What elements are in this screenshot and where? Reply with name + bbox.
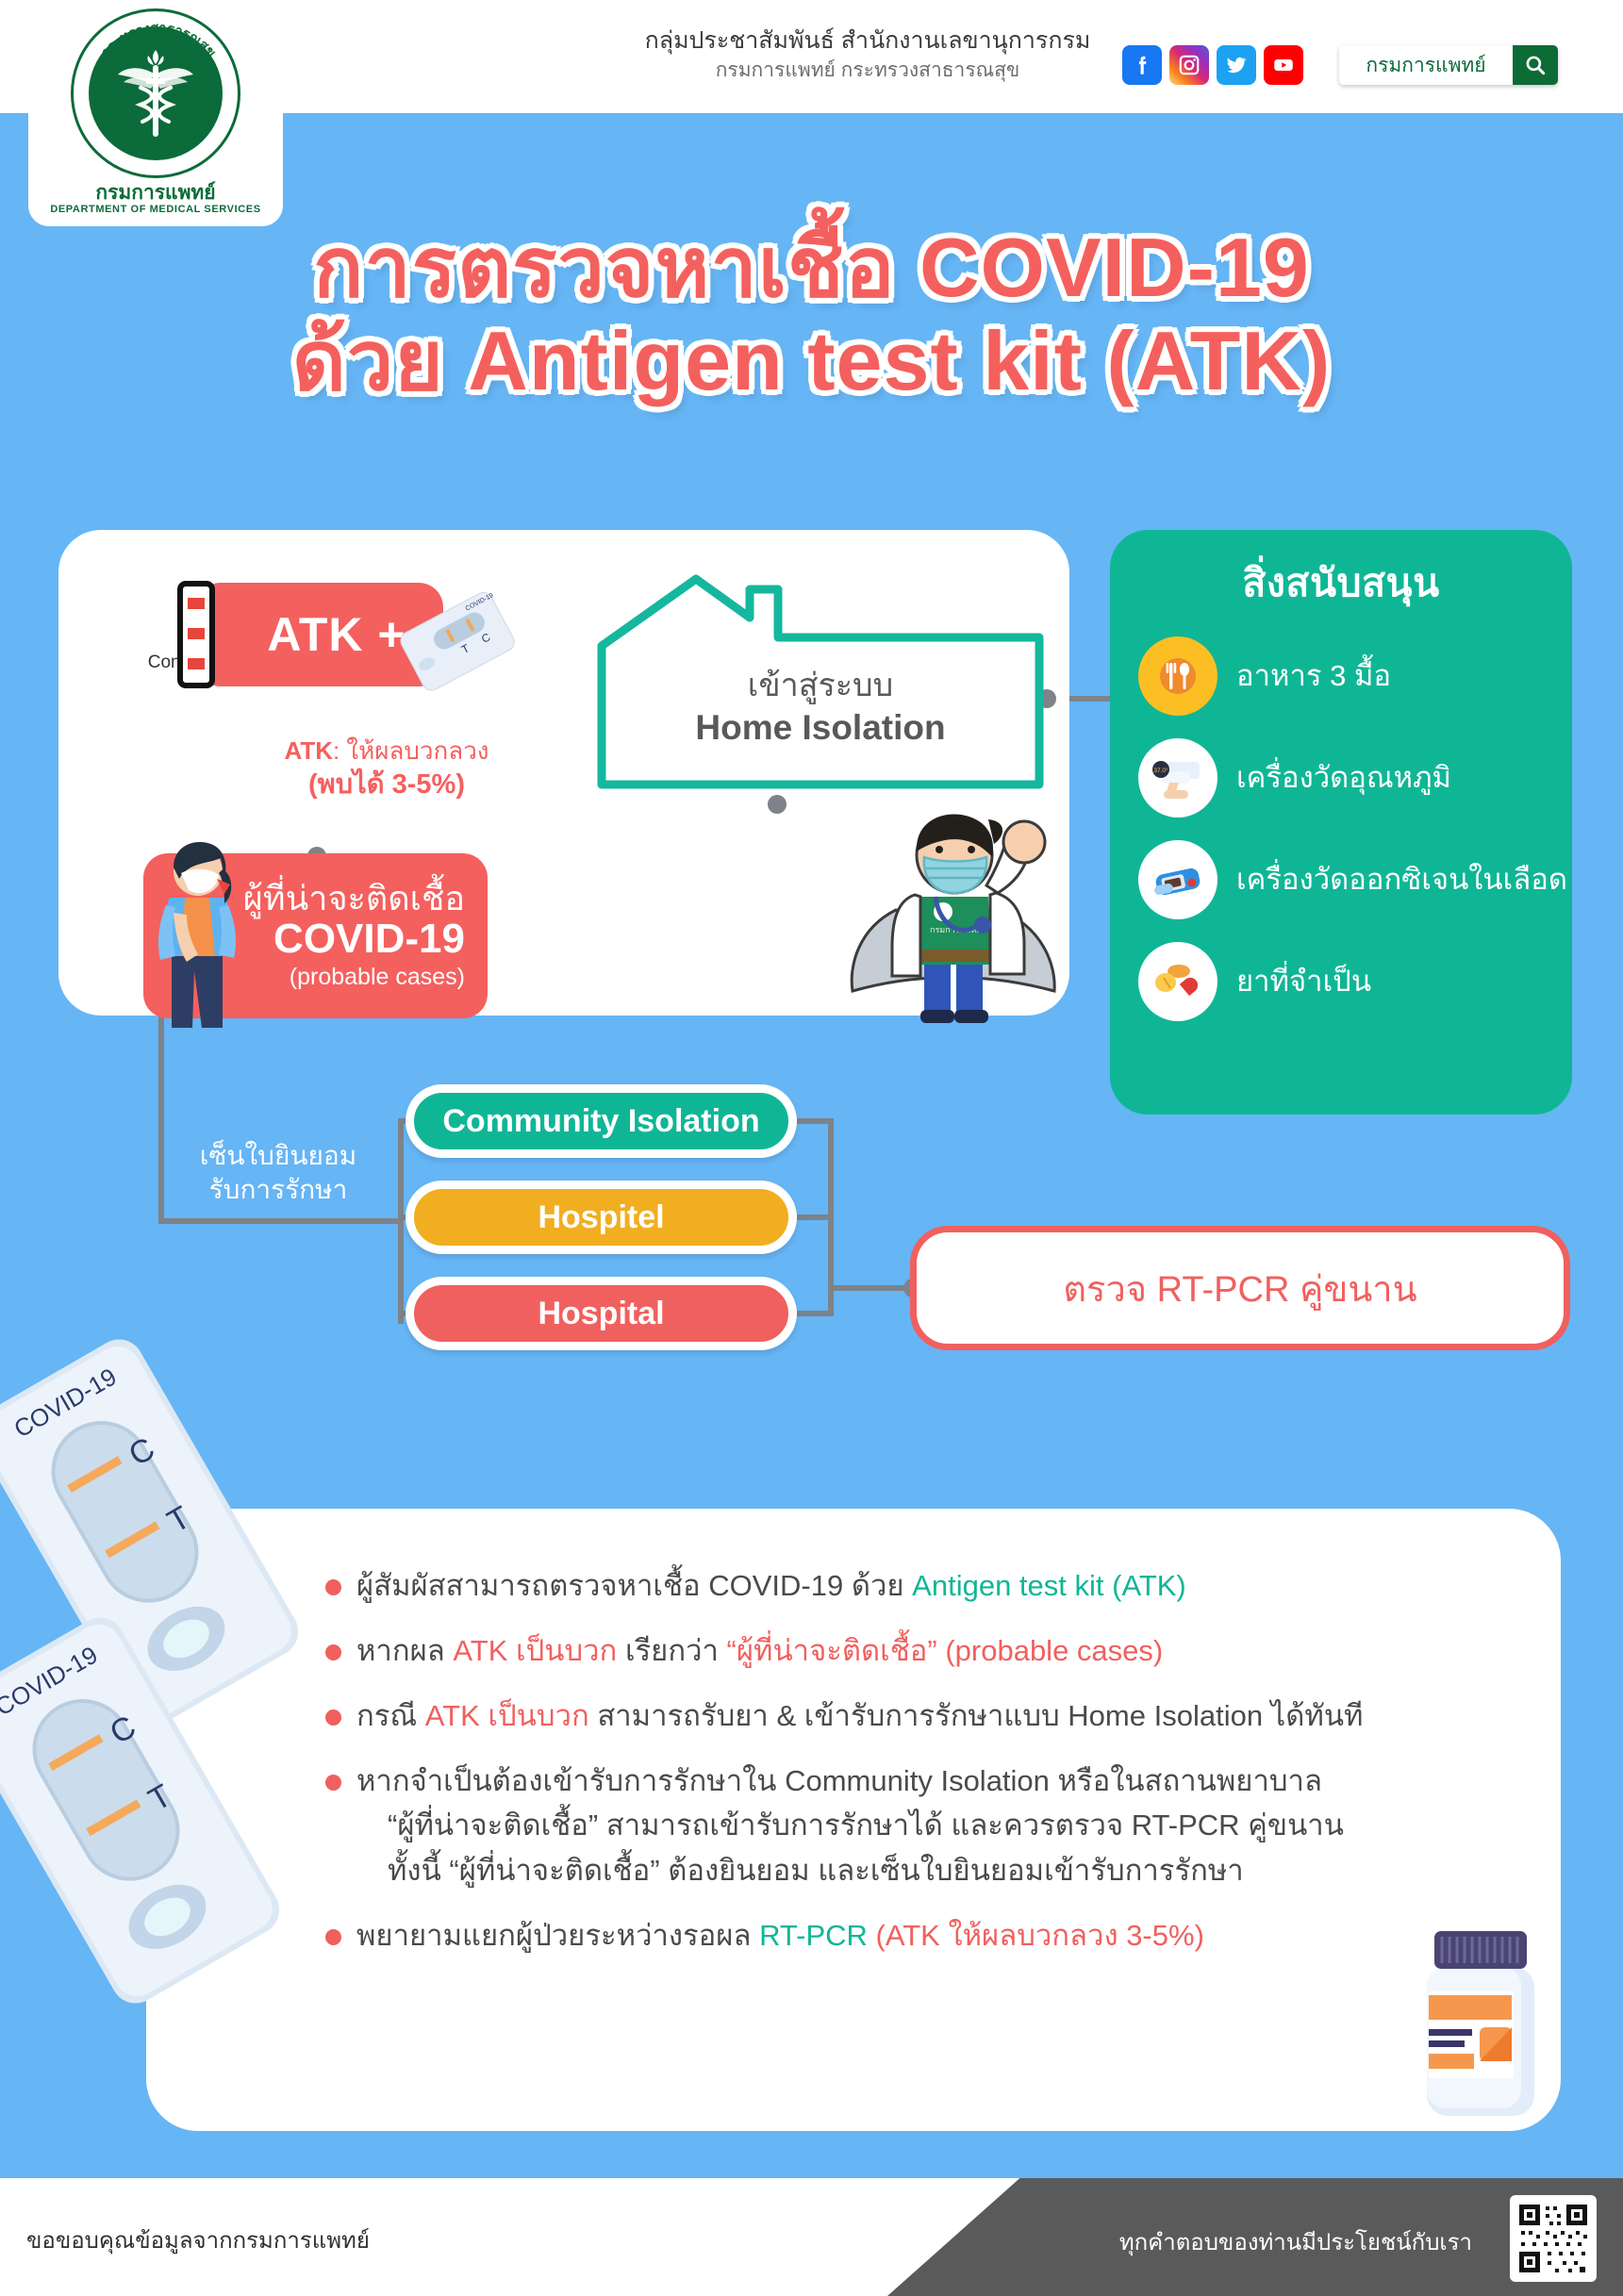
sick-woman-illustration [143, 830, 266, 1037]
note-text-span: กรณี [356, 1699, 425, 1732]
search-box[interactable]: กรมการแพทย์ [1339, 45, 1558, 85]
probable-line-1: ผู้ที่น่าจะติดเชื้อ [243, 880, 465, 917]
note-text-span: ATK เป็นบวก [453, 1634, 625, 1667]
note-text-span: Antigen test kit (ATK) [912, 1569, 1186, 1602]
title-line-1: การตรวจหาเชื้อ COVID-19 [0, 222, 1623, 315]
notes-panel: ผู้สัมผัสสามารถตรวจหาเชื้อ COVID-19 ด้วย… [146, 1509, 1561, 2131]
note-content: หากจำเป็นต้องเข้ารับการรักษาใน Community… [356, 1759, 1344, 1891]
note-item: หากจำเป็นต้องเข้ารับการรักษาใน Community… [325, 1759, 1504, 1891]
option-hospital[interactable]: Hospital [406, 1277, 797, 1350]
note-text-span: ต้องยินยอม และเซ็นใบยินยอมเข้ารับการรักษ… [668, 1854, 1244, 1887]
doctor-hero-illustration: กรมการแพทย์ [839, 806, 1080, 1023]
cassette-band-igm [188, 598, 205, 609]
atk-false-positive-note: ATK: ให้ผลบวกลวง (พบได้ 3-5%) [245, 735, 528, 802]
atk-note-line-2: (พบได้ 3-5%) [245, 768, 528, 803]
cassette-band-igg [188, 628, 205, 639]
bullet-icon [325, 1579, 341, 1595]
page-footer: ขอขอบคุณข้อมูลจากกรมการแพทย์ ทุกคำตอบของ… [0, 2178, 1623, 2296]
note-main-line: หากผล ATK เป็นบวก เรียกว่า “ผู้ที่น่าจะต… [356, 1628, 1163, 1673]
note-text-span: (ATK ให้ผลบวกลวง 3-5%) [876, 1919, 1204, 1952]
connector-left-to-tree [158, 1218, 404, 1224]
twitter-icon[interactable] [1217, 45, 1256, 85]
pill-bottle-icon [1410, 1924, 1551, 2122]
option-community-isolation[interactable]: Community Isolation [406, 1084, 797, 1158]
atk-note-label: ATK [284, 736, 333, 765]
note-main-line: หากจำเป็นต้องเข้ารับการรักษาใน Community… [356, 1759, 1344, 1803]
atk-note-line-1: ATK: ให้ผลบวกลวง [245, 735, 528, 768]
support-item-thermometer: 37.0° เครื่องวัดอุณหภูมิ [1138, 738, 1572, 818]
footer-survey-text: ทุกคำตอบของท่านมีประโยชน์กับเรา [1119, 2223, 1472, 2260]
support-label-food: อาหาร 3 มื้อ [1236, 659, 1391, 693]
youtube-icon[interactable] [1264, 45, 1303, 85]
note-item: หากผล ATK เป็นบวก เรียกว่า “ผู้ที่น่าจะต… [325, 1628, 1504, 1673]
atk-note-rest: : ให้ผลบวกลวง [333, 736, 489, 765]
note-sub-line: “ผู้ที่น่าจะติดเชื้อ” สามารถเข้ารับการรั… [388, 1803, 1344, 1847]
org-line-2: กรมการแพทย์ กระทรวงสาธารณสุข [622, 58, 1113, 84]
note-item: ผู้สัมผัสสามารถตรวจหาเชื้อ COVID-19 ด้วย… [325, 1563, 1504, 1608]
note-content: ผู้สัมผัสสามารถตรวจหาเชื้อ COVID-19 ด้วย… [356, 1563, 1186, 1608]
note-text-span: ATK เป็นบวก [425, 1699, 598, 1732]
page-title: การตรวจหาเชื้อ COVID-19 ด้วย Antigen tes… [0, 222, 1623, 407]
house-line-2: Home Isolation [613, 706, 1028, 750]
note-text-span: สามารถรับยา & เข้ารับการรักษาแบบ Home Is… [597, 1699, 1363, 1732]
note-text-span: “ผู้ที่น่าจะติดเชื้อ” [388, 1809, 606, 1842]
seal-ring-text: กระทรวงสาธารณสุข MINISTRY OF PUBLIC HEAL… [74, 11, 243, 181]
note-sub-line: ทั้งนี้ “ผู้ที่น่าจะติดเชื้อ” ต้องยินยอม… [388, 1848, 1344, 1892]
note-text-span: RT-PCR [759, 1919, 875, 1952]
medicine-pills-icon [1138, 942, 1217, 1021]
support-label-medicine: ยาที่จำเป็น [1236, 965, 1371, 999]
thermometer-gun-icon: 37.0° [1138, 738, 1217, 818]
qr-code-icon[interactable] [1510, 2195, 1597, 2282]
support-item-oximeter: เครื่องวัดออกซิเจนในเลือด [1138, 840, 1572, 919]
ministry-logo-card: กระทรวงสาธารณสุข MINISTRY OF PUBLIC HEAL… [28, 0, 283, 226]
rtpcr-parallel-box: ตรวจ RT-PCR คู่ขนาน [910, 1226, 1570, 1350]
svg-text:37.0°: 37.0° [1153, 767, 1168, 774]
org-text-block: กลุ่มประชาสัมพันธ์ สำนักงานเลขานุการกรม … [622, 25, 1113, 84]
note-text-span: “ผู้ที่น่าจะติดเชื้อ” [449, 1854, 668, 1887]
note-main-line: ผู้สัมผัสสามารถตรวจหาเชื้อ COVID-19 ด้วย… [356, 1563, 1186, 1608]
support-label-thermometer: เครื่องวัดอุณหภูมิ [1236, 761, 1451, 795]
connector-left-vertical [158, 1015, 164, 1224]
cassette-band-control [188, 658, 205, 669]
note-text-span: หากผล [356, 1634, 453, 1667]
support-panel: สิ่งสนับสนุน อาหาร 3 มื้อ [1110, 530, 1572, 1115]
bullet-icon [325, 1644, 341, 1660]
connector-tree-vertical [398, 1121, 404, 1324]
consent-line-1: เซ็นใบยินยอม [170, 1139, 387, 1173]
note-content: กรณี ATK เป็นบวก สามารถรับยา & เข้ารับกา… [356, 1693, 1363, 1738]
note-text-span: ผู้สัมผัสสามารถตรวจหาเชื้อ COVID-19 ด้วย [356, 1569, 912, 1602]
footer-thanks: ขอขอบคุณข้อมูลจากกรมการแพทย์ [26, 2222, 370, 2258]
note-main-line: พยายามแยกผู้ป่วยระหว่างรอผล RT-PCR (ATK … [356, 1913, 1204, 1957]
instagram-icon[interactable] [1169, 45, 1209, 85]
title-line-2: ด้วย Antigen test kit (ATK) [0, 315, 1623, 408]
search-input[interactable]: กรมการแพทย์ [1339, 45, 1513, 85]
probable-line-2: COVID-19 [273, 917, 465, 961]
bullet-icon [325, 1929, 341, 1945]
bullet-icon [325, 1775, 341, 1791]
search-icon[interactable] [1513, 45, 1558, 85]
svg-text:กระทรวงสาธารณสุข: กระทรวงสาธารณสุข [98, 21, 219, 60]
support-label-oximeter: เครื่องวัดออกซิเจนในเลือด [1236, 863, 1567, 897]
note-text-span: เรียกว่า [625, 1634, 727, 1667]
home-isolation-label: เข้าสู่ระบบ Home Isolation [613, 666, 1028, 750]
support-title: สิ่งสนับสนุน [1110, 553, 1572, 614]
probable-line-3: (probable cases) [290, 962, 465, 993]
logo-name-th: กรมการแพทย์ [95, 182, 215, 204]
option-hospitel[interactable]: Hospitel [406, 1181, 797, 1254]
logo-name-en: DEPARTMENT OF MEDICAL SERVICES [50, 204, 260, 215]
consent-note: เซ็นใบยินยอม รับการรักษา [170, 1139, 387, 1208]
house-line-1: เข้าสู่ระบบ [613, 666, 1028, 706]
infographic-page: กลุ่มประชาสัมพันธ์ สำนักงานเลขานุการกรม … [0, 0, 1623, 2296]
note-text-span: สามารถเข้ารับการรักษาได้ และควรตรวจ RT-P… [606, 1809, 1344, 1842]
note-content: หากผล ATK เป็นบวก เรียกว่า “ผู้ที่น่าจะต… [356, 1628, 1163, 1673]
atk-cassette-icon [177, 581, 215, 688]
note-text-span: “ผู้ที่น่าจะติดเชื้อ” (probable cases) [727, 1634, 1164, 1667]
pulse-oximeter-icon [1138, 840, 1217, 919]
cutlery-icon [1138, 636, 1217, 716]
note-content: พยายามแยกผู้ป่วยระหว่างรอผล RT-PCR (ATK … [356, 1913, 1204, 1957]
svg-text:MINISTRY OF PUBLIC HEALTH: MINISTRY OF PUBLIC HEALTH [95, 96, 222, 159]
org-line-1: กลุ่มประชาสัมพันธ์ สำนักงานเลขานุการกรม [622, 25, 1113, 58]
facebook-icon[interactable] [1122, 45, 1162, 85]
note-text-span: พยายามแยกผู้ป่วยระหว่างรอผล [356, 1919, 759, 1952]
note-main-line: กรณี ATK เป็นบวก สามารถรับยา & เข้ารับกา… [356, 1693, 1363, 1738]
ministry-seal-icon: กระทรวงสาธารณสุข MINISTRY OF PUBLIC HEAL… [71, 8, 240, 178]
note-text-span: ทั้งนี้ [388, 1854, 449, 1887]
consent-line-2: รับการรักษา [170, 1173, 387, 1207]
bullet-icon [325, 1710, 341, 1726]
support-item-medicine: ยาที่จำเป็น [1138, 942, 1572, 1021]
social-links [1122, 45, 1303, 85]
note-item: กรณี ATK เป็นบวก สามารถรับยา & เข้ารับกา… [325, 1693, 1504, 1738]
notes-list: ผู้สัมผัสสามารถตรวจหาเชื้อ COVID-19 ด้วย… [146, 1509, 1561, 1957]
note-item: พยายามแยกผู้ป่วยระหว่างรอผล RT-PCR (ATK … [325, 1913, 1504, 1957]
note-text-span: หากจำเป็นต้องเข้ารับการรักษาใน Community… [356, 1764, 1322, 1797]
support-item-food: อาหาร 3 มื้อ [1138, 636, 1572, 716]
